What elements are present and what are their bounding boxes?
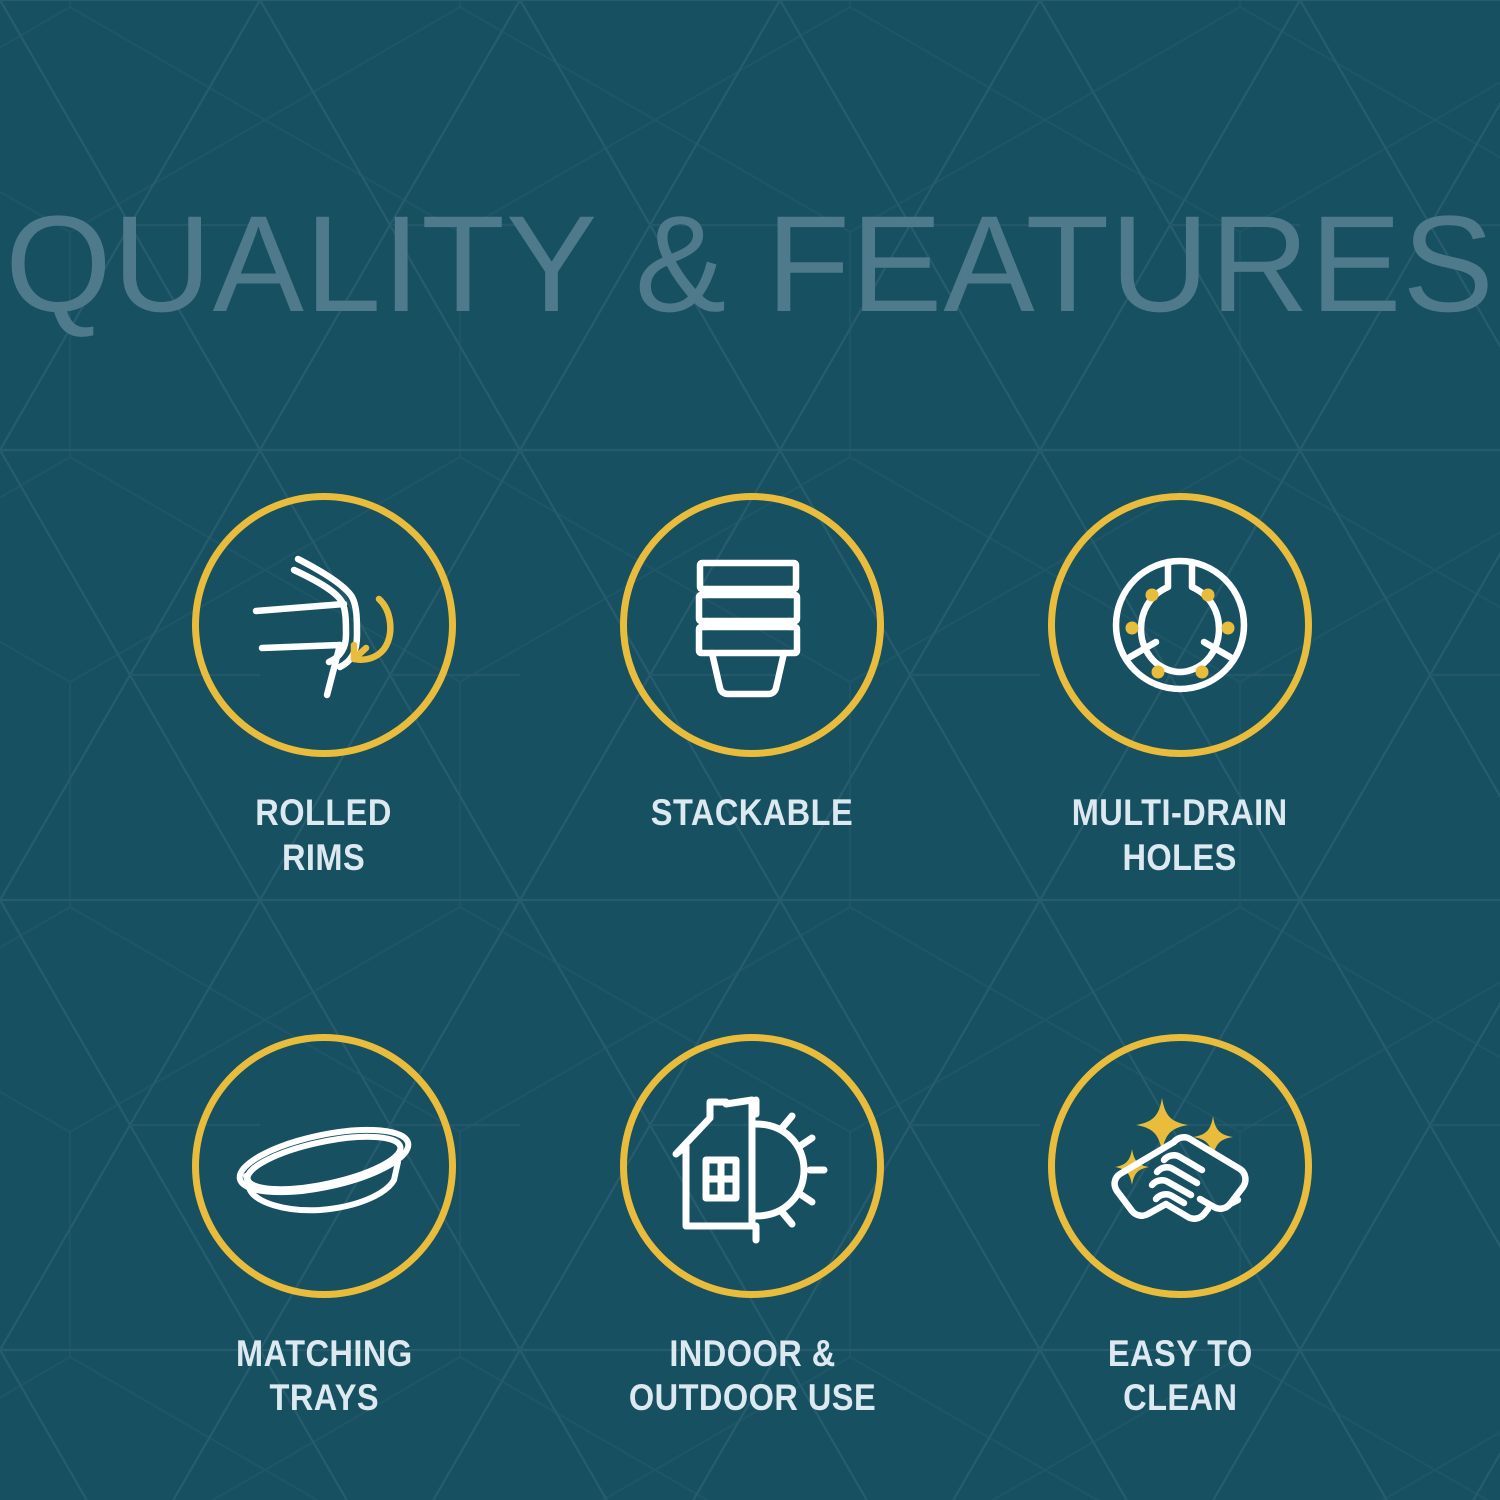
feature-icon-badge: [1048, 493, 1312, 757]
house-sun-icon: [652, 1066, 852, 1266]
feature-icon-badge: [620, 493, 884, 757]
feature-icon-badge: [192, 493, 456, 757]
feature-stackable[interactable]: STACKABLE: [538, 493, 966, 836]
feature-label: EASY TO CLEAN: [1108, 1332, 1253, 1422]
feature-icon-badge: [1048, 1034, 1312, 1298]
feature-icon-badge: [620, 1034, 884, 1298]
feature-label: INDOOR & OUTDOOR USE: [628, 1332, 875, 1422]
feature-label: MATCHING TRAYS: [236, 1332, 413, 1422]
rolled-rim-icon: [224, 525, 424, 725]
feature-rolled-rims[interactable]: ROLLED RIMS: [110, 493, 538, 881]
feature-multi-drain-holes[interactable]: MULTI-DRAIN HOLES: [966, 493, 1394, 881]
feature-label: STACKABLE: [651, 791, 853, 836]
feature-icon-badge: [192, 1034, 456, 1298]
feature-label: ROLLED RIMS: [256, 791, 392, 881]
page-title: QUALITY & FEATURES: [0, 196, 1500, 333]
drain-holes-icon: [1080, 525, 1280, 725]
feature-easy-to-clean[interactable]: EASY TO CLEAN: [966, 1034, 1394, 1422]
features-row-2: MATCHING TRAYS: [110, 1034, 1394, 1422]
features-grid: ROLLED RIMS: [110, 493, 1394, 1421]
feature-infographic: QUALITY & FEATURES: [0, 0, 1500, 1500]
oval-tray-icon: [224, 1066, 424, 1266]
feature-matching-trays[interactable]: MATCHING TRAYS: [110, 1034, 538, 1422]
stacked-pots-icon: [652, 525, 852, 725]
feature-label: MULTI-DRAIN HOLES: [1072, 791, 1288, 881]
feature-indoor-outdoor-use[interactable]: INDOOR & OUTDOOR USE: [538, 1034, 966, 1422]
wiping-hand-sparkle-icon: [1080, 1066, 1280, 1266]
features-row-1: ROLLED RIMS: [110, 493, 1394, 881]
